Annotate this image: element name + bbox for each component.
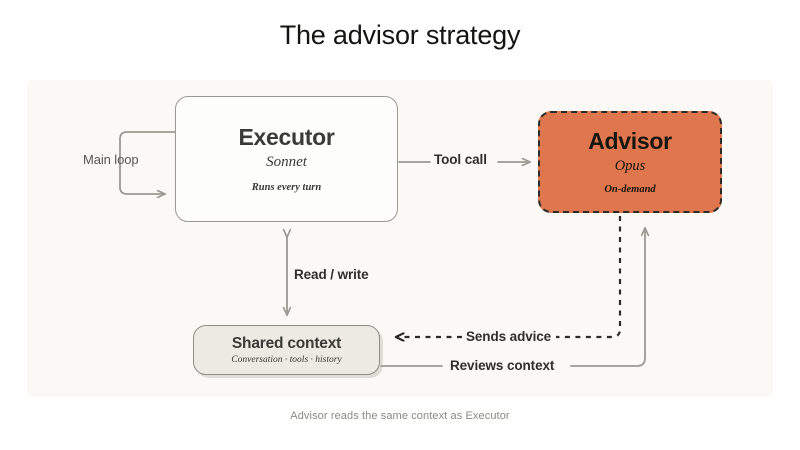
edge-sends-advice bbox=[396, 216, 620, 337]
advisor-title: Advisor bbox=[588, 129, 672, 154]
executor-note: Runs every turn bbox=[252, 182, 321, 193]
edge-label-tool-call: Tool call bbox=[434, 152, 487, 167]
advisor-note: On-demand bbox=[604, 184, 655, 195]
edge-label-main-loop: Main loop bbox=[83, 152, 138, 167]
node-executor[interactable]: Executor Sonnet Runs every turn bbox=[175, 96, 398, 222]
node-advisor[interactable]: Advisor Opus On-demand bbox=[538, 111, 722, 213]
edge-label-read-write: Read / write bbox=[294, 267, 369, 282]
executor-subtitle: Sonnet bbox=[266, 154, 307, 171]
diagram-connectors bbox=[0, 0, 800, 450]
edge-reviews-context bbox=[381, 228, 645, 366]
edge-label-reviews-context: Reviews context bbox=[450, 358, 554, 373]
shared-context-subtitle: Conversation · tools · history bbox=[231, 355, 341, 365]
edge-label-sends-advice: Sends advice bbox=[466, 329, 551, 344]
executor-title: Executor bbox=[238, 125, 334, 150]
shared-context-title: Shared context bbox=[232, 335, 341, 352]
node-shared-context[interactable]: Shared context Conversation · tools · hi… bbox=[193, 325, 380, 375]
diagram-caption: Advisor reads the same context as Execut… bbox=[0, 410, 800, 422]
advisor-subtitle: Opus bbox=[615, 158, 646, 175]
